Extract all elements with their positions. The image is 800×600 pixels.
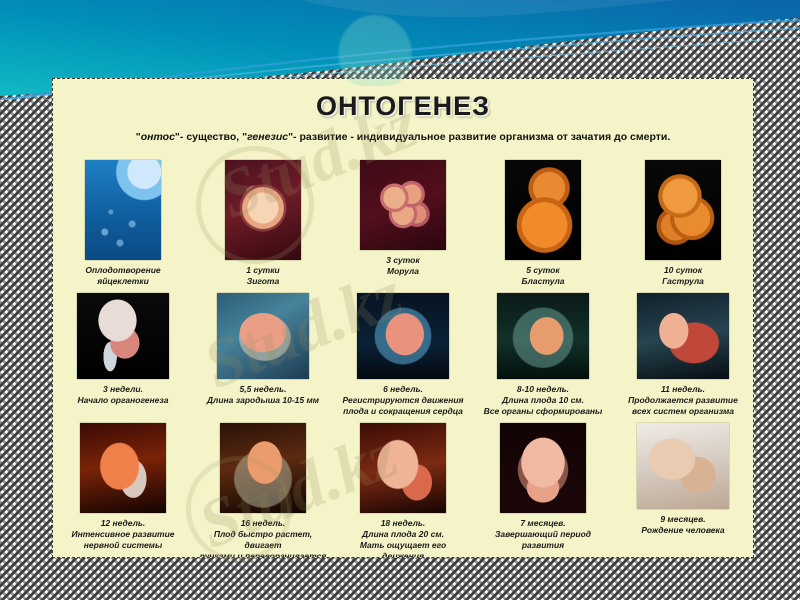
stage-cell: 8-10 недель. Длина плода 10 см. Все орга… [479, 293, 607, 417]
stage-caption: 5,5 недель. Длина зародыша 10-15 мм [207, 384, 319, 406]
term-ontos: онтос [141, 131, 175, 143]
stage-caption: 12 недель. Интенсивное развитие нервной … [71, 518, 174, 551]
stage-row-1: Оплодотворение яйцеклетки 1 сутки Зигота… [53, 160, 753, 287]
stage-caption: 6 недель. Регистрируются движения плода … [342, 384, 463, 417]
stage-row-3: 12 недель. Интенсивное развитие нервной … [53, 423, 753, 558]
stage-caption: 3 суток Морула [386, 255, 419, 277]
stage-caption: 10 суток Гаструла [662, 265, 704, 287]
stage-cell: 3 суток Морула [339, 160, 467, 277]
stage-caption: 5 суток Бластула [522, 265, 565, 287]
stage-cell: Оплодотворение яйцеклетки [59, 160, 187, 287]
stage-image-8-10-weeks [497, 293, 589, 379]
stage-cell: 1 сутки Зигота [199, 160, 327, 287]
stage-cell: 11 недель. Продолжается развитие всех си… [619, 293, 747, 417]
stage-cell: 9 месяцев. Рождение человека [619, 423, 747, 536]
stage-cell: 12 недель. Интенсивное развитие нервной … [59, 423, 187, 551]
stage-caption: 3 недели. Начало органогенеза [78, 384, 169, 406]
stage-caption: 18 недель. Длина плода 20 см. Мать ощуща… [339, 518, 467, 558]
stage-cell: 18 недель. Длина плода 20 см. Мать ощуща… [339, 423, 467, 558]
stage-caption: 11 недель. Продолжается развитие всех си… [628, 384, 738, 417]
stage-image-11-weeks [637, 293, 729, 379]
stage-cell: 6 недель. Регистрируются движения плода … [339, 293, 467, 417]
stage-cell: 3 недели. Начало органогенеза [59, 293, 187, 406]
term-genesis: генезис [247, 131, 288, 143]
stage-caption: 9 месяцев. Рождение человека [641, 514, 724, 536]
stage-image-5-5-weeks [217, 293, 309, 379]
stage-image-18-weeks [360, 423, 446, 513]
stage-caption: 7 месяцев. Завершающий период развития [495, 518, 591, 551]
stage-image-6-weeks [357, 293, 449, 379]
stage-image-fertilization [85, 160, 161, 260]
stage-image-blastula [505, 160, 581, 260]
stage-image-3-weeks [77, 293, 169, 379]
stage-cell: 7 месяцев. Завершающий период развития [479, 423, 607, 551]
stage-image-zygote [225, 160, 301, 260]
stage-image-9-months-birth [637, 423, 729, 509]
stage-image-16-weeks [220, 423, 306, 513]
stage-image-morula [360, 160, 446, 250]
stage-image-7-months [500, 423, 586, 513]
stage-caption: 8-10 недель. Длина плода 10 см. Все орга… [484, 384, 603, 417]
stage-image-gastrula [645, 160, 721, 260]
stage-cell: 5,5 недель. Длина зародыша 10-15 мм [199, 293, 327, 406]
slide-root: ОНТОГЕНЕЗ "онтос"- существо, "генезис"- … [0, 0, 800, 600]
subtitle-mid: "- существо, " [175, 131, 247, 143]
subtitle-tail: "- развитие - индивидуальное развитие ор… [288, 131, 670, 143]
content-card: ОНТОГЕНЕЗ "онтос"- существо, "генезис"- … [52, 78, 754, 558]
stage-row-2: 3 недели. Начало органогенеза 5,5 недель… [53, 293, 753, 417]
subtitle-definition: "онтос"- существо, "генезис"- развитие -… [67, 131, 739, 144]
stage-caption: 1 сутки Зигота [246, 265, 280, 287]
stage-caption: 16 недель. Плод быстро растет, двигает р… [199, 518, 327, 558]
stage-caption: Оплодотворение яйцеклетки [85, 265, 160, 287]
stage-cell: 10 суток Гаструла [619, 160, 747, 287]
stage-cell: 16 недель. Плод быстро растет, двигает р… [199, 423, 327, 558]
stage-image-12-weeks [80, 423, 166, 513]
stage-cell: 5 суток Бластула [479, 160, 607, 287]
page-title: ОНТОГЕНЕЗ [53, 91, 753, 122]
